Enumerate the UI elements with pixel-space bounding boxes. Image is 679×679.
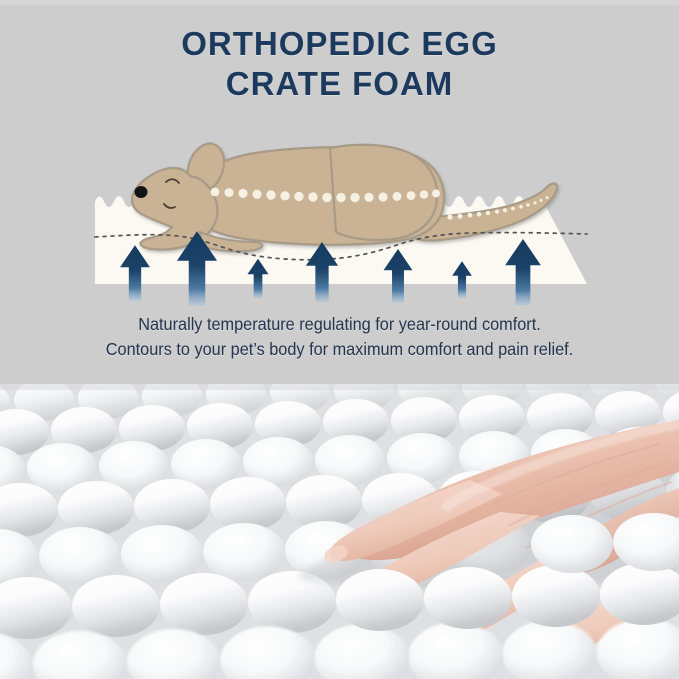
product-infographic: ORTHOPEDIC EGG CRATE FOAM: [0, 0, 679, 679]
foam-texture-photo: [0, 384, 679, 679]
top-info-panel: ORTHOPEDIC EGG CRATE FOAM: [0, 0, 679, 384]
dog-on-foam-illustration: [0, 120, 679, 315]
page-title: ORTHOPEDIC EGG CRATE FOAM: [0, 24, 679, 103]
caption-line-2: Contours to your pet’s body for maximum …: [24, 337, 655, 362]
title-line-1: ORTHOPEDIC EGG: [0, 24, 679, 64]
title-line-2: CRATE FOAM: [0, 64, 679, 104]
caption-line-1: Naturally temperature regulating for yea…: [24, 312, 655, 337]
benefit-caption: Naturally temperature regulating for yea…: [0, 312, 679, 362]
top-hairline-divider: [0, 0, 679, 5]
dog-nose: [135, 186, 148, 198]
